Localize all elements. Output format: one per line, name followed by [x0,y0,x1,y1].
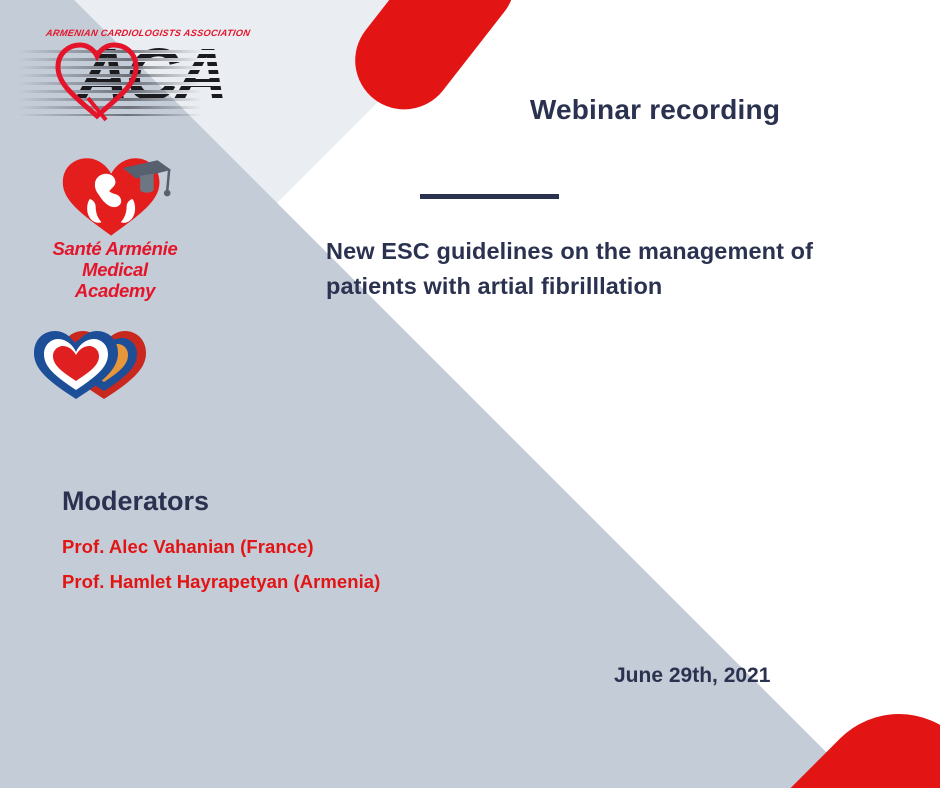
page-title: Webinar recording [400,94,910,126]
sante-logo-line2: Medical Academy [40,259,190,301]
moderators-heading: Moderators [62,486,209,517]
sante-logo-line1: Santé Arménie [40,238,190,259]
two-hearts-logo-icon [32,323,162,403]
logo-stack: ARMENIAN CARDIOLOGISTS ASSOCIATION ACA [0,28,250,403]
event-date: June 29th, 2021 [614,664,770,688]
webinar-subject: New ESC guidelines on the management of … [326,234,866,304]
sante-heart-graduation-icon [57,154,173,238]
title-divider [420,194,559,199]
sante-armenie-logo: Santé Arménie Medical Academy [40,154,190,301]
moderator-name: Prof. Hamlet Hayrapetyan (Armenia) [62,571,380,593]
aca-heart-outline-icon [54,42,140,122]
poster-content: ARMENIAN CARDIOLOGISTS ASSOCIATION ACA [0,0,940,788]
moderator-name: Prof. Alec Vahanian (France) [62,536,314,558]
aca-logo: ARMENIAN CARDIOLOGISTS ASSOCIATION ACA [18,28,250,128]
webinar-poster: ARMENIAN CARDIOLOGISTS ASSOCIATION ACA [0,0,940,788]
